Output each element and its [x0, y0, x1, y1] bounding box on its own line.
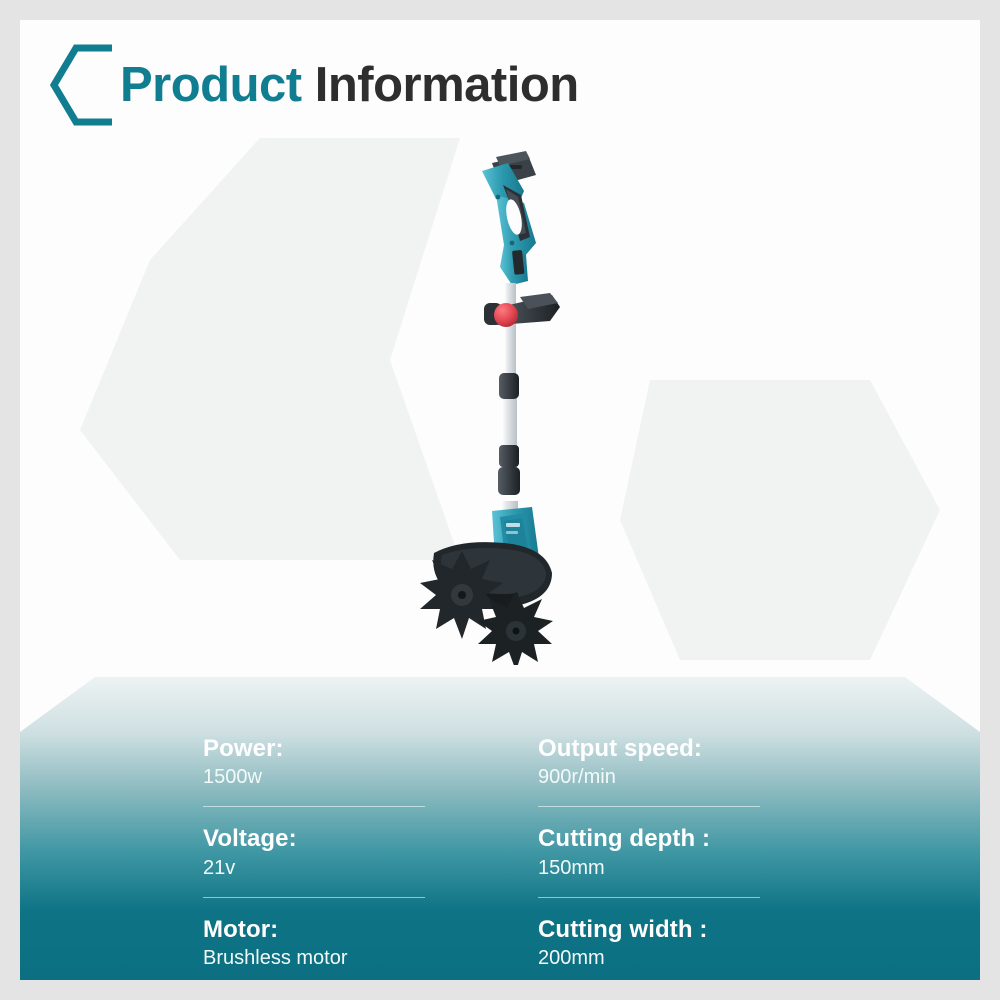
page-title: Product Information: [120, 61, 579, 110]
page-title-secondary: Information: [315, 58, 579, 112]
auxiliary-handle: [484, 293, 560, 327]
chevron-bracket-icon: [50, 44, 112, 126]
spec-value-cutting-depth: 150mm: [538, 856, 878, 881]
background-hexagon-right: [620, 360, 960, 690]
spec-label-motor: Motor:: [203, 916, 543, 944]
spec-divider: [538, 806, 760, 807]
page-title-primary: Product: [120, 58, 302, 112]
red-clamp-knob: [494, 303, 518, 327]
spec-item-power: Power: 1500w: [203, 735, 543, 807]
spec-value-motor: Brushless motor: [203, 946, 543, 971]
product-image-tiller: [400, 145, 620, 665]
spec-label-output-speed: Output speed:: [538, 735, 878, 763]
page-header: Product Information: [50, 40, 579, 130]
spec-column-left: Power: 1500w Voltage: 21v Motor: Brushle…: [203, 735, 543, 971]
spec-label-voltage: Voltage:: [203, 825, 543, 853]
page-root: Product Information: [0, 0, 1000, 1000]
spec-item-cutting-depth: Cutting depth : 150mm: [538, 825, 878, 897]
content-card: Product Information: [20, 20, 980, 980]
spec-label-cutting-width: Cutting width :: [538, 916, 878, 944]
spec-divider: [203, 897, 425, 898]
spec-label-cutting-depth: Cutting depth :: [538, 825, 878, 853]
spec-item-cutting-width: Cutting width : 200mm: [538, 916, 878, 971]
spec-column-right: Output speed: 900r/min Cutting depth : 1…: [538, 735, 878, 971]
d-handle-grip: [482, 163, 536, 285]
spec-value-power: 1500w: [203, 765, 543, 790]
spec-divider: [203, 806, 425, 807]
spec-divider: [538, 897, 760, 898]
spec-value-output-speed: 900r/min: [538, 765, 878, 790]
spec-item-motor: Motor: Brushless motor: [203, 916, 543, 971]
spec-value-voltage: 21v: [203, 856, 543, 881]
spec-item-output-speed: Output speed: 900r/min: [538, 735, 878, 807]
spec-label-power: Power:: [203, 735, 543, 763]
specifications-panel: Power: 1500w Voltage: 21v Motor: Brushle…: [20, 637, 980, 980]
spec-item-voltage: Voltage: 21v: [203, 825, 543, 897]
specifications-grid: Power: 1500w Voltage: 21v Motor: Brushle…: [20, 637, 980, 980]
spec-value-cutting-width: 200mm: [538, 946, 878, 971]
